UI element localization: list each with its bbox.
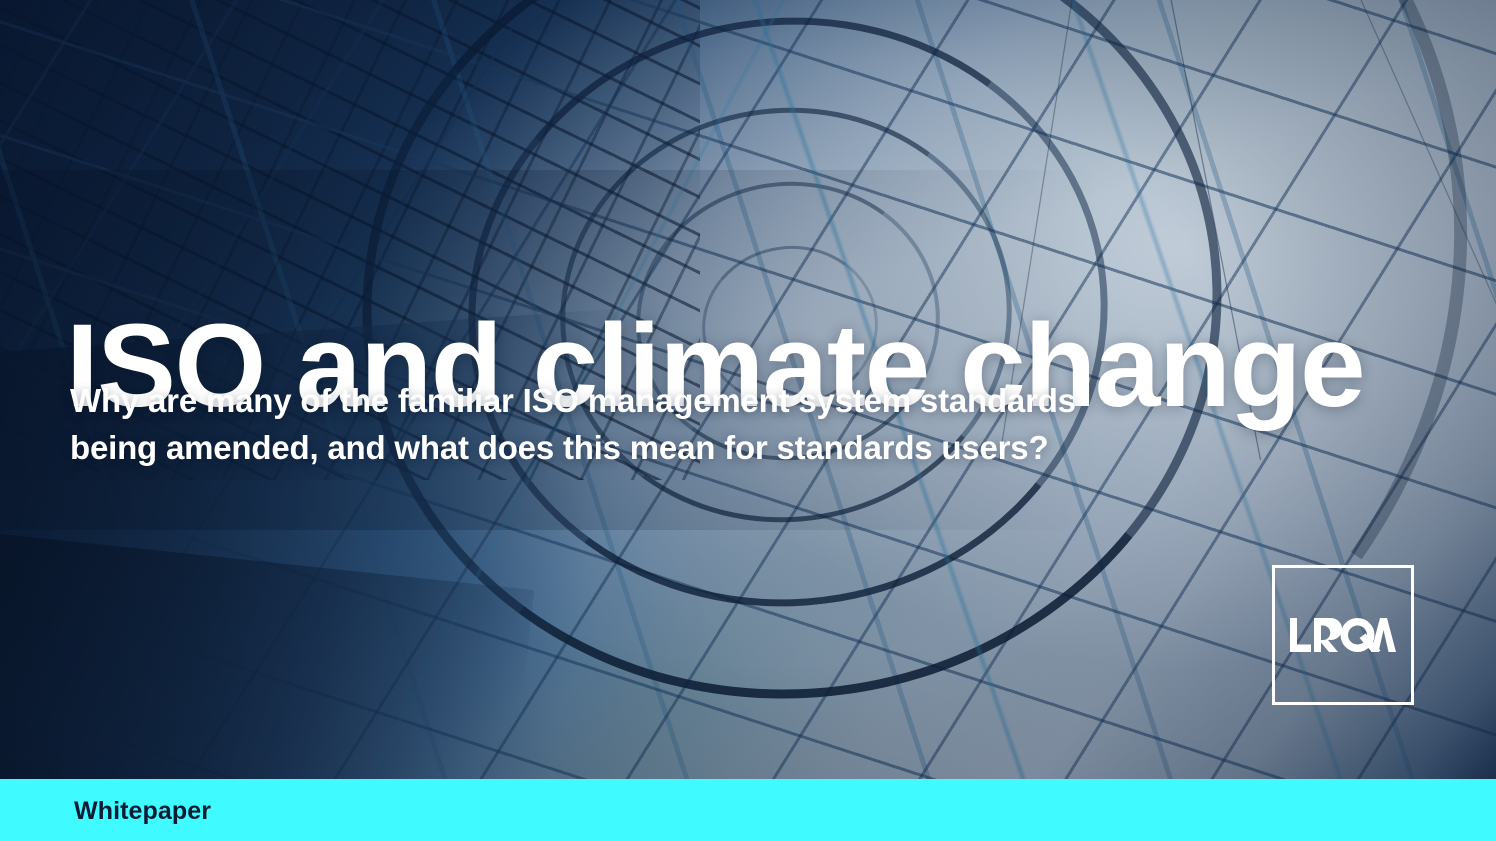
whitepaper-cover: ISO and climate change Why are many of t… (0, 0, 1496, 841)
page-subtitle-line-1: Why are many of the familiar ISO managem… (70, 378, 1310, 425)
footer-document-type-label: Whitepaper (74, 797, 211, 826)
footer-accent-bar: Whitepaper (0, 779, 1496, 841)
page-subtitle: Why are many of the familiar ISO managem… (70, 378, 1310, 472)
page-subtitle-line-2: being amended, and what does this mean f… (70, 425, 1310, 472)
lrqa-logo-icon (1290, 618, 1396, 652)
lrqa-logo-frame (1272, 565, 1414, 705)
